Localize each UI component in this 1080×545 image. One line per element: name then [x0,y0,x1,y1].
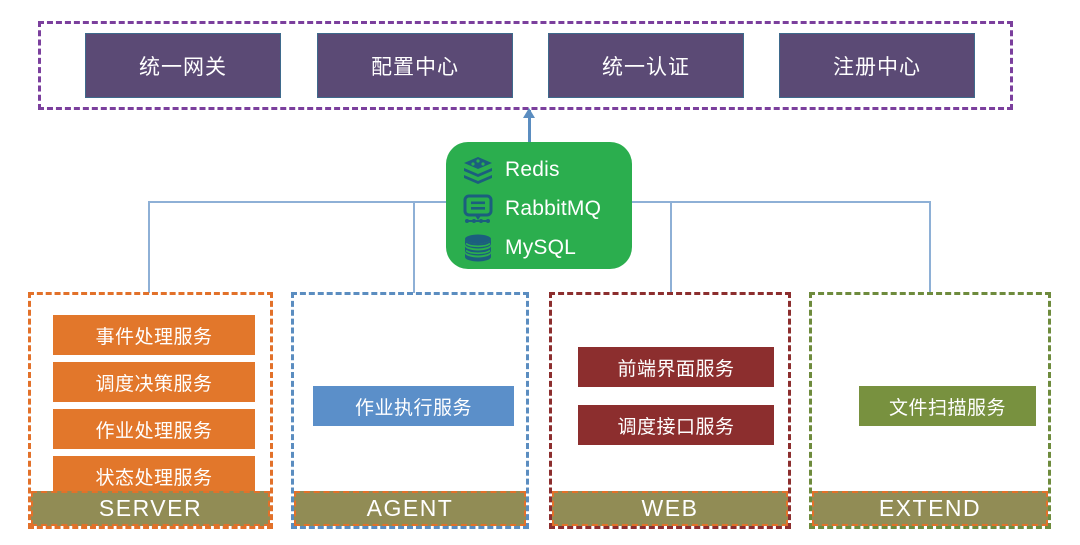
service-label: 状态处理服务 [95,463,212,490]
service-label: 文件扫描服务 [889,393,1006,420]
middleware-label-redis: Redis [505,158,560,182]
service-label: 调度决策服务 [95,369,212,396]
platform-box-unified-auth[interactable]: 统一认证 [548,33,744,98]
group-label-agent: AGENT [294,491,526,526]
middleware-row-mysql: MySQL [460,229,632,266]
service-box[interactable]: 作业处理服务 [53,409,255,449]
group-label-text: WEB [642,495,699,522]
service-box[interactable]: 状态处理服务 [53,456,255,496]
group-label-text: EXTEND [879,495,981,522]
group-label-web: WEB [552,491,788,526]
connector-drop-extend [929,201,931,293]
platform-box-unified-gateway[interactable]: 统一网关 [85,33,281,98]
architecture-diagram: 统一网关 配置中心 统一认证 注册中心 [0,0,1080,545]
middleware-row-rabbitmq: RabbitMQ [460,190,632,227]
group-extend[interactable]: 文件扫描服务 EXTEND [809,292,1051,529]
service-box[interactable]: 调度接口服务 [578,405,774,445]
service-box[interactable]: 调度决策服务 [53,362,255,402]
platform-box-registry-center[interactable]: 注册中心 [779,33,975,98]
middleware-label-rabbitmq: RabbitMQ [505,197,601,221]
group-label-extend: EXTEND [812,491,1048,526]
group-web[interactable]: 前端界面服务 调度接口服务 WEB [549,292,791,529]
connector-drop-server [148,201,150,293]
rabbitmq-message-icon [460,192,496,225]
middleware-box[interactable]: Redis RabbitMQ [446,142,632,269]
platform-box-label: 配置中心 [371,51,459,81]
middleware-label-mysql: MySQL [505,236,576,260]
service-label: 调度接口服务 [617,412,734,439]
mysql-database-icon [460,231,496,264]
connector-drop-agent [413,201,415,293]
group-agent[interactable]: 作业执行服务 AGENT [291,292,529,529]
service-box[interactable]: 作业执行服务 [313,386,514,426]
service-box[interactable]: 事件处理服务 [53,315,255,355]
group-server[interactable]: 事件处理服务 调度决策服务 作业处理服务 状态处理服务 SERVER [28,292,273,529]
platform-box-label: 注册中心 [833,51,921,81]
platform-box-config-center[interactable]: 配置中心 [317,33,513,98]
service-label: 前端界面服务 [617,354,734,381]
group-label-server: SERVER [31,491,270,526]
group-label-text: SERVER [99,495,202,522]
group-label-text: AGENT [367,495,454,522]
service-box[interactable]: 文件扫描服务 [859,386,1036,426]
platform-box-label: 统一网关 [139,51,227,81]
service-label: 作业处理服务 [95,416,212,443]
arrow-up-icon [523,108,535,118]
connector-drop-web [670,201,672,293]
service-label: 事件处理服务 [95,322,212,349]
redis-layers-icon [460,153,496,186]
middleware-row-redis: Redis [460,151,632,188]
platform-box-label: 统一认证 [602,51,690,81]
service-box[interactable]: 前端界面服务 [578,347,774,387]
service-label: 作业执行服务 [355,393,472,420]
